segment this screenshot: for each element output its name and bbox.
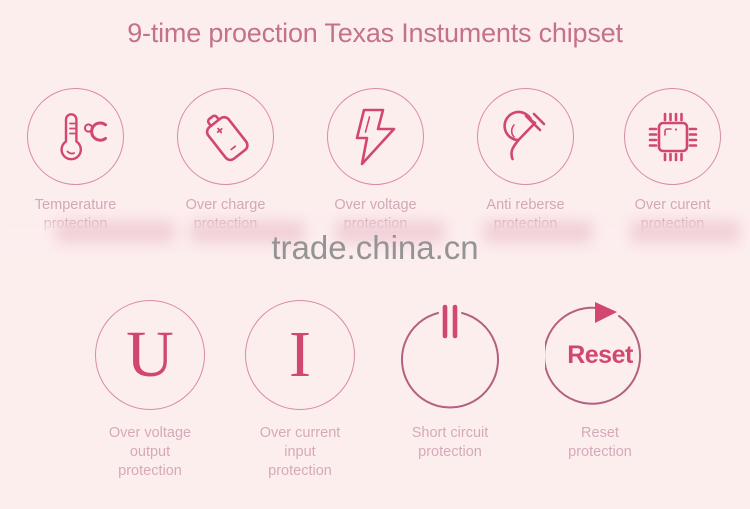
feature-caption: Over voltage protection	[327, 196, 424, 234]
feature-item-reset[interactable]: Reset Reset protection	[545, 300, 655, 462]
power-plug-icon	[478, 89, 573, 184]
feature-item-over-current[interactable]: Over curent protection	[624, 88, 721, 234]
feature-row-top: Temperature protection	[0, 88, 750, 288]
feature-caption: Over current input protection	[245, 424, 355, 481]
feature-item-over-charge[interactable]: Over charge protection	[177, 88, 274, 234]
anti-reverse-badge	[477, 88, 574, 185]
feature-item-short-circuit[interactable]: Short circuit protection	[395, 300, 505, 462]
lightning-bolt-icon	[328, 89, 423, 184]
reset-label: Reset	[545, 300, 655, 410]
feature-caption: Temperature protection	[27, 196, 124, 234]
feature-caption: Over curent protection	[624, 196, 721, 234]
feature-item-anti-reverse[interactable]: Anti reberse protection	[477, 88, 574, 234]
over-voltage-output-badge: U	[95, 300, 205, 410]
feature-item-over-voltage[interactable]: Over voltage protection	[327, 88, 424, 234]
feature-caption: Reset protection	[545, 424, 655, 462]
thermometer-celsius-icon	[28, 89, 123, 184]
short-circuit-break-icon	[395, 300, 505, 410]
battery-icon	[178, 89, 273, 184]
feature-row-bottom: U Over voltage output protection I Over …	[0, 300, 750, 500]
feature-item-over-voltage-output[interactable]: U Over voltage output protection	[95, 300, 205, 481]
over-current-badge	[624, 88, 721, 185]
letter-i-icon: I	[246, 301, 354, 409]
over-charge-badge	[177, 88, 274, 185]
temperature-badge	[27, 88, 124, 185]
short-circuit-badge	[395, 300, 505, 410]
feature-caption: Over charge protection	[177, 196, 274, 234]
feature-caption: Anti reberse protection	[477, 196, 574, 234]
feature-item-over-current-input[interactable]: I Over current input protection	[245, 300, 355, 481]
over-voltage-badge	[327, 88, 424, 185]
letter-u-icon: U	[96, 301, 204, 409]
cpu-chip-icon	[625, 89, 720, 184]
promo-feature-graphic: 9-time proection Texas Instuments chipse…	[0, 0, 750, 509]
reset-badge: Reset	[545, 300, 655, 410]
feature-item-temperature[interactable]: Temperature protection	[27, 88, 124, 234]
feature-caption: Short circuit protection	[395, 424, 505, 462]
page-title: 9-time proection Texas Instuments chipse…	[0, 18, 750, 49]
over-current-input-badge: I	[245, 300, 355, 410]
feature-caption: Over voltage output protection	[95, 424, 205, 481]
